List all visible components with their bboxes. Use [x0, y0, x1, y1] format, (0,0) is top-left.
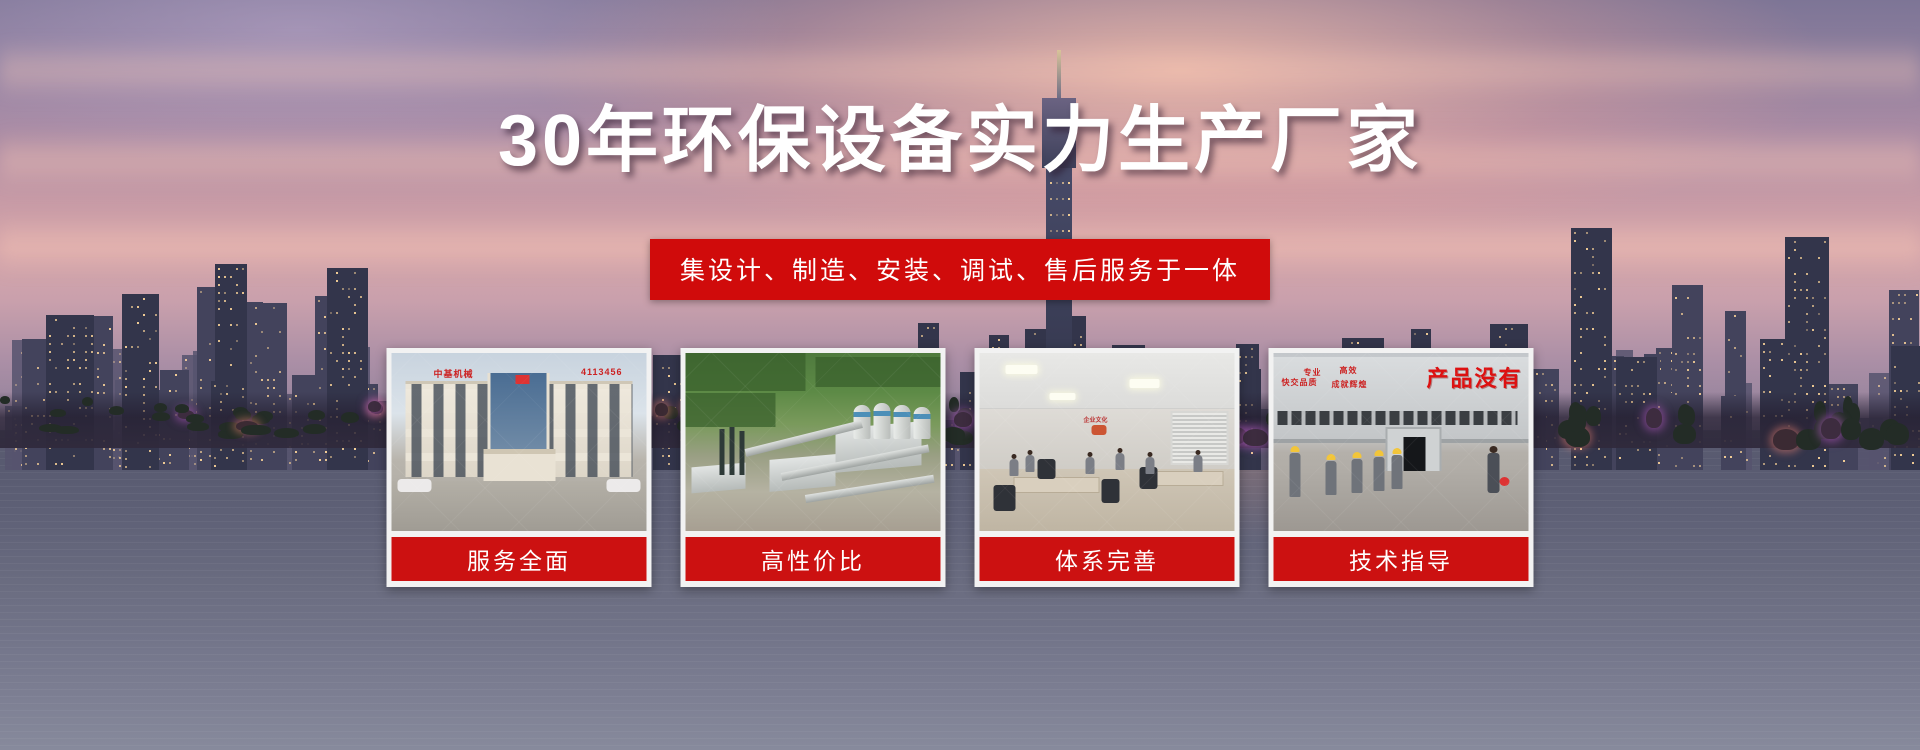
feature-card[interactable]: 企业文化 体系完善 [975, 348, 1240, 587]
tree [82, 397, 93, 406]
feature-card[interactable]: 产品没有 快交品质 专业 高效 成就辉煌 技术指导 [1269, 348, 1534, 587]
hero-banner: 30年环保设备实力生产厂家 集设计、制造、安装、调试、售后服务于一体 中基机械 … [0, 0, 1920, 750]
tree [154, 403, 167, 412]
tree [235, 410, 251, 420]
tree [1821, 418, 1841, 439]
tree [109, 406, 124, 415]
tree [1569, 402, 1582, 422]
tree [152, 412, 170, 421]
tree [1673, 424, 1696, 444]
card-label: 服务全面 [392, 537, 647, 581]
tree [55, 426, 79, 434]
feature-card[interactable]: 高性价比 [681, 348, 946, 587]
card-label: 高性价比 [686, 537, 941, 581]
subtitle-badge: 集设计、制造、安装、调试、售后服务于一体 [650, 239, 1270, 300]
tree [1586, 406, 1601, 426]
tree [1841, 418, 1861, 440]
card-photo-office-interior: 企业文化 [980, 353, 1235, 531]
feature-card[interactable]: 中基机械 4113456 服务全面 [387, 348, 652, 587]
building-sign-text: 中基机械 [434, 367, 474, 380]
tree [241, 425, 265, 435]
factory-wall-text: 产品没有 [1426, 361, 1522, 393]
factory-slogan-1: 快交品质 [1282, 377, 1318, 388]
tree [368, 401, 381, 412]
card-label: 技术指导 [1274, 537, 1529, 581]
card-photo-office-building: 中基机械 4113456 [392, 353, 647, 531]
tree [175, 404, 189, 413]
tree [1678, 404, 1692, 424]
tree [274, 428, 299, 438]
tree [1886, 423, 1909, 445]
factory-slogan-3: 高效 [1340, 365, 1358, 376]
card-photo-industrial-plant [686, 353, 941, 531]
card-photo-factory-workers: 产品没有 快交品质 专业 高效 成就辉煌 [1274, 353, 1529, 531]
feature-card-list: 中基机械 4113456 服务全面 [387, 348, 1534, 587]
tree [0, 396, 10, 404]
card-label: 体系完善 [980, 537, 1235, 581]
factory-slogan-2: 专业 [1304, 367, 1322, 378]
building-phone-text: 4113456 [581, 367, 623, 377]
tree [1796, 429, 1821, 450]
page-title: 30年环保设备实力生产厂家 [0, 105, 1920, 177]
tree [341, 412, 359, 423]
tree [50, 409, 66, 417]
tree [187, 422, 209, 431]
factory-slogan-4: 成就辉煌 [1332, 379, 1368, 390]
tree [1859, 428, 1884, 450]
tree [308, 410, 325, 420]
tree [1646, 408, 1662, 428]
tree [303, 424, 326, 434]
